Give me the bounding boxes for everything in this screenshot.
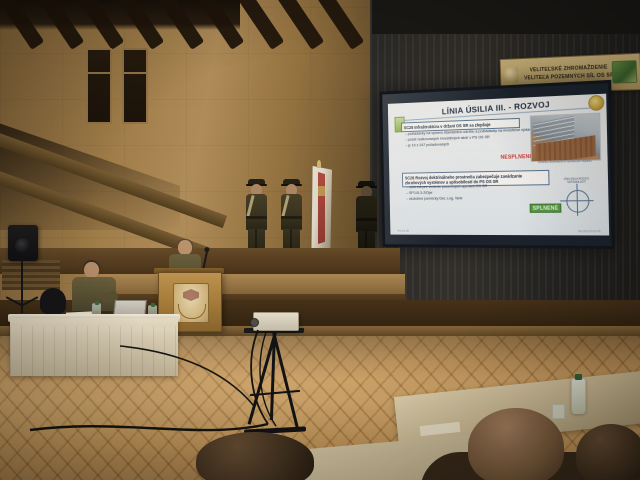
- flag-crest-icon: [318, 186, 325, 196]
- water-bottle: [571, 378, 586, 414]
- compass-rose-diagram: LÍNIA ÚSILIA ROZVOJ SPÔSOBILOSTÍ: [556, 177, 599, 219]
- flag-red-stripe: [318, 172, 325, 244]
- wall-window-panels: [86, 48, 156, 124]
- wall-panel-left: [86, 48, 112, 124]
- flag-finial: [317, 160, 321, 168]
- slide-bullets-2: doktrína pre vedenie pozemných operácií …: [406, 183, 542, 202]
- wall-radiator: [2, 260, 60, 290]
- ceiling-beams: [0, 0, 380, 64]
- table-drape: [10, 326, 178, 376]
- unit-crest-icon: [612, 60, 638, 84]
- audience-head: [576, 424, 640, 480]
- upper-soffit: [372, 0, 640, 34]
- stage-step-1: [100, 274, 405, 294]
- auditorium-photo: VELITEĽSKÉ ZHROMAŽDENIE VELITEĽA POZEMNÝ…: [0, 0, 640, 480]
- state-crest-icon: [504, 67, 519, 83]
- slide-footer-left: PS OS SR: [398, 230, 409, 233]
- drinking-glass: [552, 404, 565, 419]
- projector-lens-icon: [250, 318, 259, 327]
- video-projector: [253, 312, 299, 331]
- wall-panel-right: [122, 48, 148, 124]
- slide-building-photo: [530, 113, 601, 162]
- bullet: služobné pomôcky Del, Log, Tank: [406, 195, 542, 202]
- slide-footer-center: VELITEĽSTVO PS: [578, 230, 601, 233]
- slide-photo-caption: Výstavba ubytovacích a výcvikových objek…: [533, 160, 597, 165]
- gold-seal-icon: [588, 95, 604, 111]
- equipment-case: [40, 288, 66, 314]
- presentation-slide: LÍNIA ÚSILIA III. - ROZVOJ SC25 Infraštr…: [388, 94, 609, 236]
- audience-head: [468, 408, 564, 480]
- pa-loudspeaker: [8, 225, 38, 261]
- slide-bullets-1: požiadavky na výmeru štandardnú údržbu a…: [405, 127, 541, 149]
- slide-footer: PS OS SR VELITEĽSTVO PS: [390, 230, 609, 234]
- projection-screen: LÍNIA ÚSILIA III. - ROZVOJ SC25 Infraštr…: [379, 80, 614, 249]
